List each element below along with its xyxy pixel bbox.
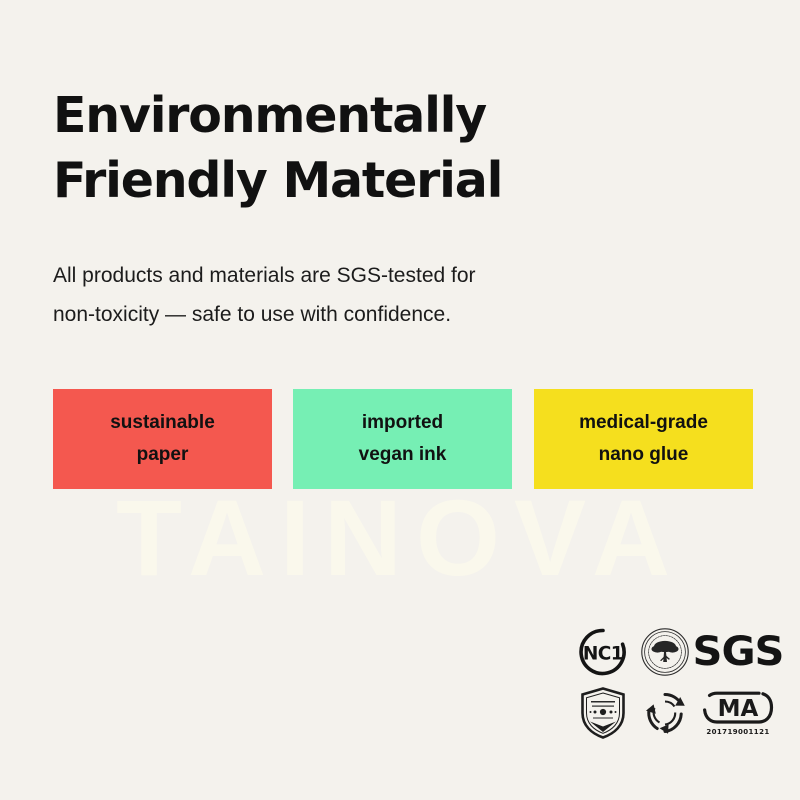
material-tag-vegan-ink: imported vegan ink [293,389,512,489]
brand-watermark: TAINOVA [0,484,800,592]
page-title: Environmentally Friendly Material [53,84,673,213]
material-tag-line-2: nano glue [599,439,689,471]
recycling-arrows-icon [634,682,696,744]
svg-text:NC1: NC1 [583,644,623,665]
material-tag-line-1: imported [362,407,443,439]
material-tag-group: sustainable paper imported vegan ink med… [53,389,753,489]
poster-canvas: TAINOVA Environmentally Friendly Materia… [0,0,800,800]
description-line-1: All products and materials are SGS-teste… [53,257,653,296]
page-title-line-2: Friendly Material [53,149,673,214]
certification-badge-group: NC1 SGS [572,622,780,748]
material-tag-line-2: paper [137,439,189,471]
description-text: All products and materials are SGS-teste… [53,257,653,335]
material-tag-sustainable-paper: sustainable paper [53,389,272,489]
sgs-logo-icon: SGS [694,622,781,682]
description-line-2: non-toxicity — safe to use with confiden… [53,296,653,335]
material-tag-line-1: medical-grade [579,407,708,439]
material-tag-line-1: sustainable [110,407,215,439]
page-title-line-1: Environmentally [53,84,673,149]
svg-text:MA: MA [718,696,759,722]
shield-badge-icon [572,682,634,744]
cma-mark-icon: MA 201719001121 [696,682,780,744]
material-tag-nano-glue: medical-grade nano glue [534,389,753,489]
nc1-circle-icon: NC1 [572,622,634,682]
material-tag-line-2: vegan ink [359,439,447,471]
forest-tree-seal-icon [634,622,696,682]
cma-certificate-code: 201719001121 [706,728,769,736]
